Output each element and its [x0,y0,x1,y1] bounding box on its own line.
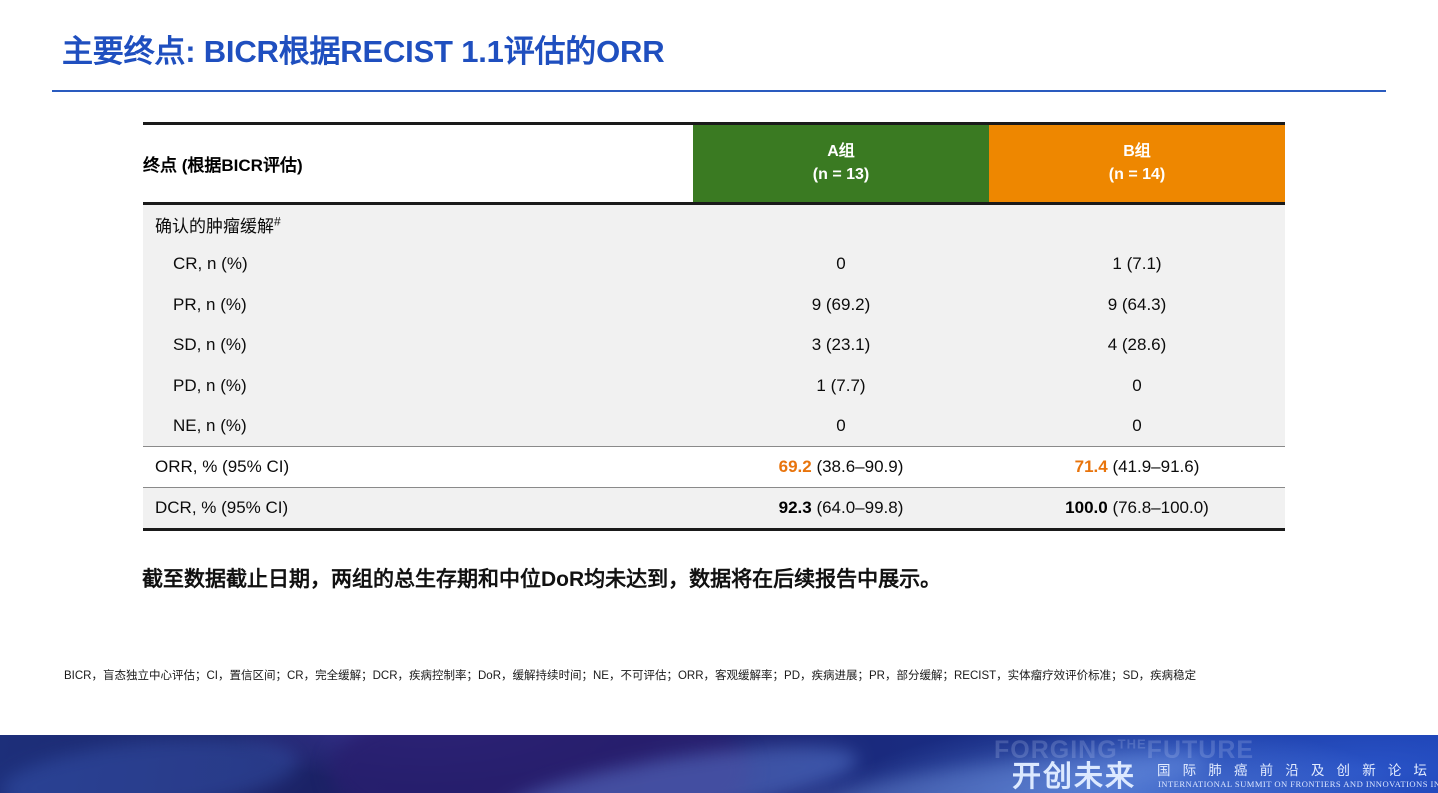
results-table-container: 终点 (根据BICR评估) A组 (n = 13) B组 (n = 14) 确认… [143,122,1285,531]
table-row: PD, n (%) 1 (7.7) 0 [143,366,1285,407]
row-label-pr: PR, n (%) [143,285,693,326]
page-title: 主要终点: BICR根据RECIST 1.1评估的ORR [62,26,664,71]
row-value-sd-b: 4 (28.6) [989,325,1285,366]
table-row: CR, n (%) 0 1 (7.1) [143,244,1285,285]
table-row-orr: ORR, % (95% CI) 69.2 (38.6–90.9) 71.4 (4… [143,447,1285,488]
footer-subtitle-english: INTERNATIONAL SUMMIT ON FRONTIERS AND IN… [1158,779,1438,789]
row-value-sd-a: 3 (23.1) [693,325,989,366]
row-value-dcr-b: 100.0 (76.8–100.0) [989,487,1285,528]
row-label-cr: CR, n (%) [143,244,693,285]
table-row: NE, n (%) 0 0 [143,406,1285,447]
group-b-name: B组 [989,141,1285,164]
row-value-orr-a: 69.2 (38.6–90.9) [693,447,989,488]
group-a-name: A组 [693,141,989,164]
column-header-endpoint: 终点 (根据BICR评估) [143,124,693,204]
abbreviations-footnote: BICR，盲态独立中心评估；CI，置信区间；CR，完全缓解；DCR，疾病控制率；… [64,668,1374,686]
group-b-n: (n = 14) [989,164,1285,187]
row-label-orr: ORR, % (95% CI) [143,447,693,488]
orr-a-value: 69.2 [779,457,812,476]
watermark-small: THE [1118,737,1147,752]
table-row-section-header: 确认的肿瘤缓解# [143,204,1285,245]
table-row: PR, n (%) 9 (69.2) 9 (64.3) [143,285,1285,326]
section-footnote-marker: # [274,214,281,228]
banner-swirl-decoration [498,735,863,793]
orr-a-ci: (38.6–90.9) [816,457,903,476]
footer-brand-chinese: 开创未来 [1012,753,1136,793]
section-label-cell: 确认的肿瘤缓解# [143,204,693,245]
row-label-ne: NE, n (%) [143,406,693,447]
orr-b-value: 71.4 [1075,457,1108,476]
row-value-pr-b: 9 (64.3) [989,285,1285,326]
row-value-orr-b: 71.4 (41.9–91.6) [989,447,1285,488]
column-header-group-a: A组 (n = 13) [693,124,989,204]
row-value-pd-a: 1 (7.7) [693,366,989,407]
row-value-cr-a: 0 [693,244,989,285]
title-divider [52,90,1386,92]
row-value-pr-a: 9 (69.2) [693,285,989,326]
orr-results-table: 终点 (根据BICR评估) A组 (n = 13) B组 (n = 14) 确认… [143,122,1285,528]
table-bottom-border [143,528,1285,531]
row-value-ne-a: 0 [693,406,989,447]
column-header-group-b: B组 (n = 14) [989,124,1285,204]
row-value-cr-b: 1 (7.1) [989,244,1285,285]
row-label-dcr: DCR, % (95% CI) [143,487,693,528]
row-label-pd: PD, n (%) [143,366,693,407]
row-value-dcr-a: 92.3 (64.0–99.8) [693,487,989,528]
section-label: 确认的肿瘤缓解 [155,217,274,236]
dcr-b-ci: (76.8–100.0) [1112,498,1208,517]
dcr-a-ci: (64.0–99.8) [816,498,903,517]
row-value-pd-b: 0 [989,366,1285,407]
banner-swirl-decoration [0,735,303,793]
orr-b-ci: (41.9–91.6) [1112,457,1199,476]
row-value-ne-b: 0 [989,406,1285,447]
banner-swirl-decoration [330,735,750,793]
section-b-cell [989,204,1285,245]
row-label-sd: SD, n (%) [143,325,693,366]
table-row-dcr: DCR, % (95% CI) 92.3 (64.0–99.8) 100.0 (… [143,487,1285,528]
dcr-b-value: 100.0 [1065,498,1108,517]
table-row: SD, n (%) 3 (23.1) 4 (28.6) [143,325,1285,366]
summary-text: 截至数据截止日期，两组的总生存期和中位DoR均未达到，数据将在后续报告中展示。 [142,563,941,593]
footer-subtitle-chinese: 国 际 肺 癌 前 沿 及 创 新 论 坛 [1157,759,1431,779]
section-a-cell [693,204,989,245]
group-a-n: (n = 13) [693,164,989,187]
table-header-row: 终点 (根据BICR评估) A组 (n = 13) B组 (n = 14) [143,124,1285,204]
footer-banner: FORGINGTHEFUTURE 开创未来 国 际 肺 癌 前 沿 及 创 新 … [0,735,1438,793]
dcr-a-value: 92.3 [779,498,812,517]
